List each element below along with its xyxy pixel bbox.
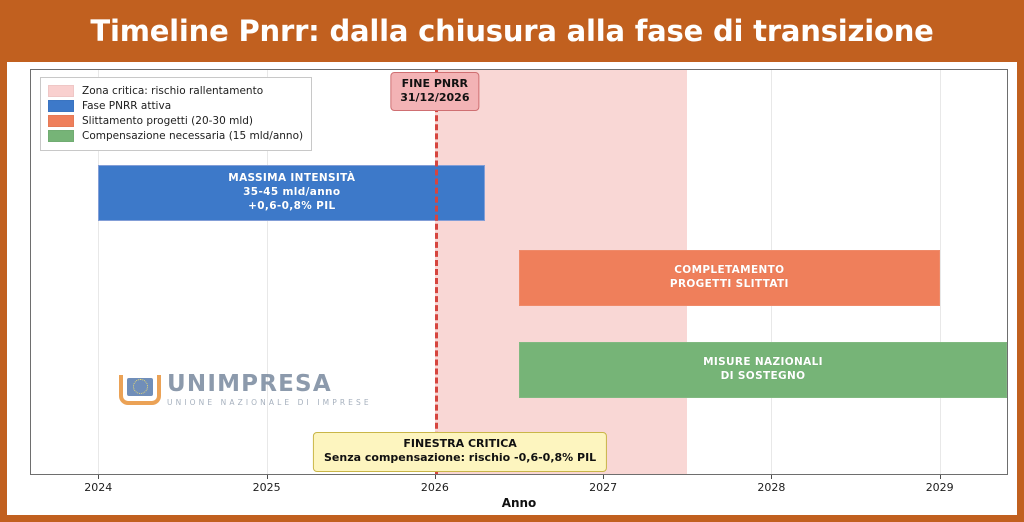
finestra-line-2: Senza compensazione: rischio -0,6-0,8% P… <box>324 451 596 465</box>
x-tick-mark-2024 <box>98 475 99 479</box>
x-tick-label-2024: 2024 <box>84 481 112 494</box>
legend-swatch-3 <box>48 115 74 127</box>
legend-label-3: Slittamento progetti (20-30 mld) <box>82 115 253 127</box>
x-tick-label-2028: 2028 <box>757 481 785 494</box>
fine-pnrr-vline <box>435 70 438 474</box>
legend-label-4: Compensazione necessaria (15 mld/anno) <box>82 130 303 142</box>
x-tick-label-2025: 2025 <box>253 481 281 494</box>
bar-1[interactable]: MASSIMA INTENSITÀ35-45 mld/anno+0,6-0,8%… <box>98 165 485 221</box>
bar-2[interactable]: COMPLETAMENTOPROGETTI SLITTATI <box>519 250 940 306</box>
legend-item-2[interactable]: Fase PNRR attiva <box>48 99 303 113</box>
x-tick-label-2027: 2027 <box>589 481 617 494</box>
x-axis-label: Anno <box>7 496 1024 510</box>
legend-item-4[interactable]: Compensazione necessaria (15 mld/anno) <box>48 129 303 143</box>
x-tick-mark-2025 <box>267 475 268 479</box>
chart-figure: Timeline Pnrr: dalla chiusura alla fase … <box>0 0 1024 522</box>
x-tick-label-2029: 2029 <box>926 481 954 494</box>
unimpresa-logo-watermark: UNIMPRESA UNIONE NAZIONALE DI IMPRESE <box>119 373 372 407</box>
x-tick-mark-2029 <box>940 475 941 479</box>
finestra-line-1: FINESTRA CRITICA <box>324 437 596 451</box>
annotation-finestra-critica: FINESTRA CRITICASenza compensazione: ris… <box>313 432 607 472</box>
legend-item-1[interactable]: Zona critica: rischio rallentamento <box>48 84 303 98</box>
legend-item-3[interactable]: Slittamento progetti (20-30 mld) <box>48 114 303 128</box>
annotation-fine-pnrr: FINE PNRR31/12/2026 <box>390 72 479 111</box>
title-banner: Timeline Pnrr: dalla chiusura alla fase … <box>0 0 1024 62</box>
x-tick-mark-2027 <box>603 475 604 479</box>
bar-label-3: MISURE NAZIONALIDI SOSTEGNO <box>703 356 823 384</box>
chart-title: Timeline Pnrr: dalla chiusura alla fase … <box>90 14 933 48</box>
bar-label-1: MASSIMA INTENSITÀ35-45 mld/anno+0,6-0,8%… <box>228 172 355 214</box>
eu-flag-u-icon <box>119 375 161 405</box>
x-tick-label-2026: 2026 <box>421 481 449 494</box>
legend-swatch-2 <box>48 100 74 112</box>
legend-label-2: Fase PNRR attiva <box>82 100 171 112</box>
legend-swatch-4 <box>48 130 74 142</box>
gridline-2029 <box>940 70 941 474</box>
chart-legend: Zona critica: rischio rallentamentoFase … <box>40 77 312 151</box>
legend-label-1: Zona critica: rischio rallentamento <box>82 85 263 97</box>
legend-swatch-1 <box>48 85 74 97</box>
logo-name: UNIMPRESA <box>167 373 372 396</box>
x-tick-mark-2026 <box>435 475 436 479</box>
bar-label-2: COMPLETAMENTOPROGETTI SLITTATI <box>670 264 789 292</box>
plot-area: MASSIMA INTENSITÀ35-45 mld/anno+0,6-0,8%… <box>30 69 1008 475</box>
bar-3[interactable]: MISURE NAZIONALIDI SOSTEGNO <box>519 342 1007 398</box>
logo-tagline: UNIONE NAZIONALE DI IMPRESE <box>167 399 372 407</box>
x-tick-mark-2028 <box>771 475 772 479</box>
